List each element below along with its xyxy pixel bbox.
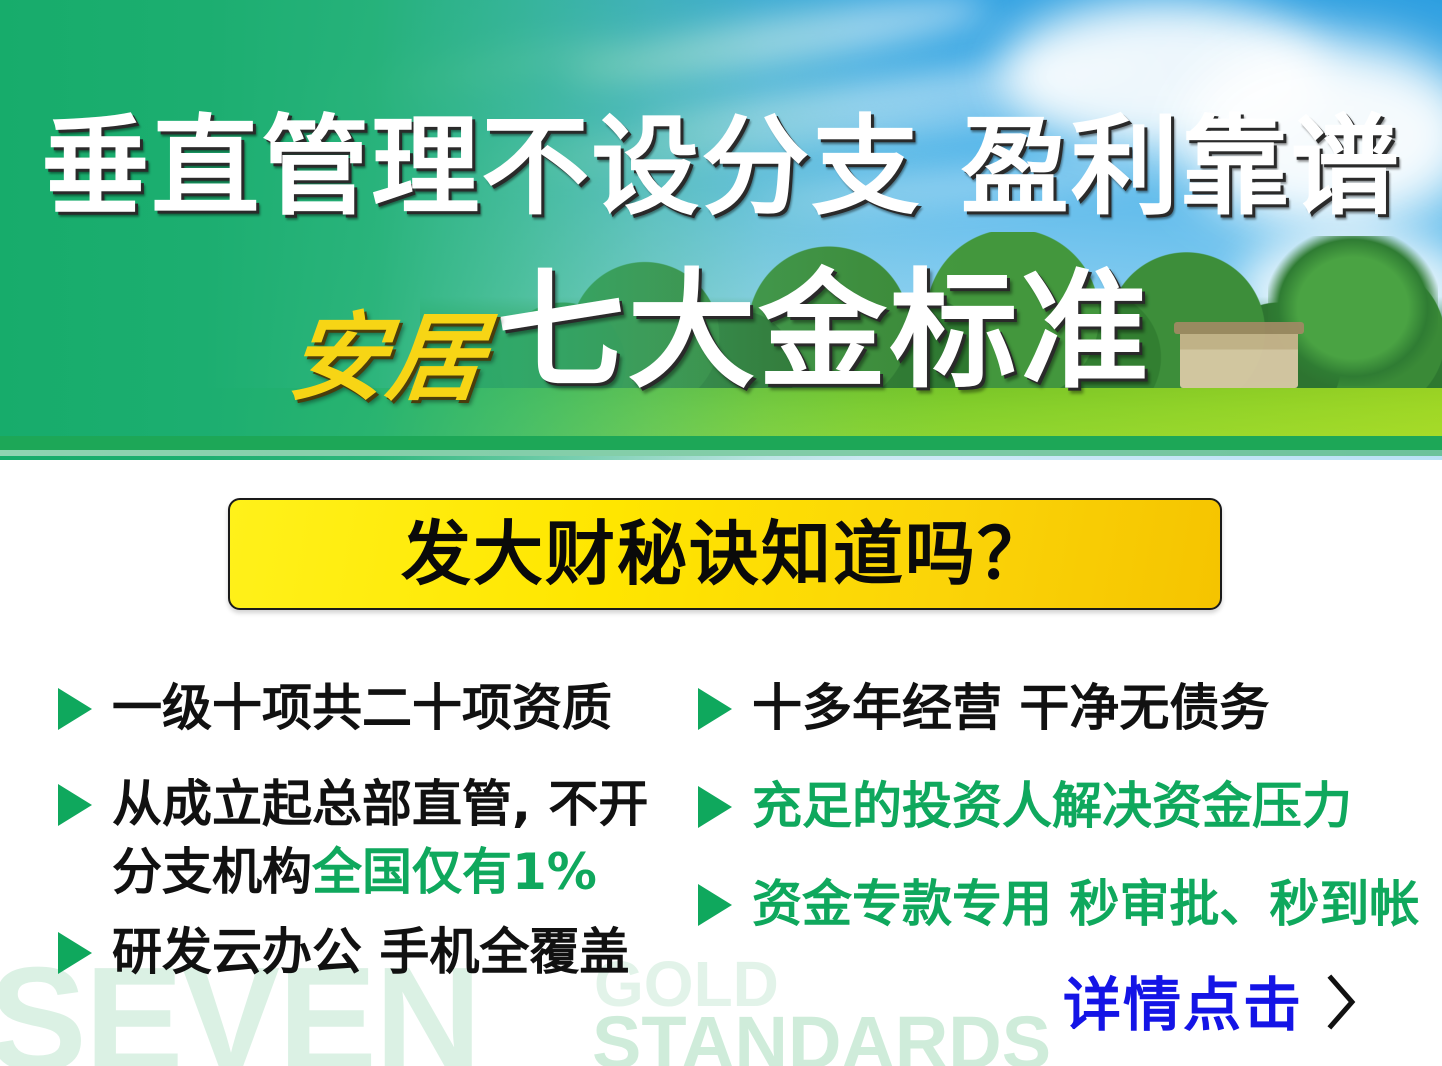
triangle-bullet-icon: [58, 688, 92, 730]
hero-banner: 垂直管理不设分支 盈利靠谱 安居七大金标准: [0, 0, 1442, 460]
feature-text-block: 从成立起总部直管, 不开 分支机构全国仅有1%: [112, 770, 648, 906]
hero-headline-primary: 垂直管理不设分支 盈利靠谱: [0, 114, 1442, 222]
feature-text: 研发云办公 手机全覆盖: [112, 918, 629, 986]
triangle-bullet-icon: [698, 884, 732, 926]
feature-text: 充足的投资人解决资金压力: [752, 772, 1352, 840]
hook-question-text: 发大财秘诀知道吗？: [401, 519, 1049, 589]
triangle-bullet-icon: [698, 786, 732, 828]
triangle-bullet-icon: [58, 932, 92, 974]
feature-item-investors: 充足的投资人解决资金压力: [698, 772, 1352, 840]
hook-question-banner[interactable]: 发大财秘诀知道吗？: [228, 498, 1222, 610]
feature-text-line2-plain: 分支机构: [112, 843, 312, 901]
details-cta-button[interactable]: 详情点击: [1063, 972, 1359, 1037]
triangle-bullet-icon: [58, 784, 92, 826]
feature-item-headquarters: 从成立起总部直管, 不开 分支机构全国仅有1%: [58, 770, 648, 906]
hero-bottom-light-strip: [0, 449, 1442, 456]
feature-item-experience: 十多年经营 干净无债务: [698, 674, 1269, 742]
feature-text-line1: 从成立起总部直管, 不开: [112, 775, 648, 833]
feature-list: 一级十项共二十项资质 从成立起总部直管, 不开 分支机构全国仅有1% 研发云办公…: [0, 660, 1442, 1000]
feature-text: 一级十项共二十项资质: [112, 674, 612, 742]
hero-headline-secondary: 七大金标准: [496, 268, 1151, 396]
feature-item-funds: 资金专款专用 秒审批、秒到帐: [698, 870, 1419, 938]
feature-item-cloud-office: 研发云办公 手机全覆盖: [58, 918, 629, 986]
feature-text: 资金专款专用 秒审批、秒到帐: [752, 870, 1419, 938]
feature-text: 十多年经营 干净无债务: [752, 674, 1269, 742]
details-cta-label: 详情点击: [1063, 976, 1303, 1034]
feature-text-line2-highlight: 全国仅有1%: [312, 843, 597, 901]
brand-name-text: 安居: [285, 310, 491, 406]
chevron-right-icon: [1325, 972, 1359, 1037]
feature-item-qualifications: 一级十项共二十项资质: [58, 674, 612, 742]
hero-headline-secondary-row: 安居七大金标准: [0, 268, 1442, 396]
hero-bottom-green-strip: [0, 436, 1442, 450]
watermark-standards-text: STANDARDS: [592, 1006, 1051, 1066]
triangle-bullet-icon: [698, 688, 732, 730]
advertisement-poster: 垂直管理不设分支 盈利靠谱 安居七大金标准 发大财秘诀知道吗？ SEVEN GO…: [0, 0, 1442, 1066]
